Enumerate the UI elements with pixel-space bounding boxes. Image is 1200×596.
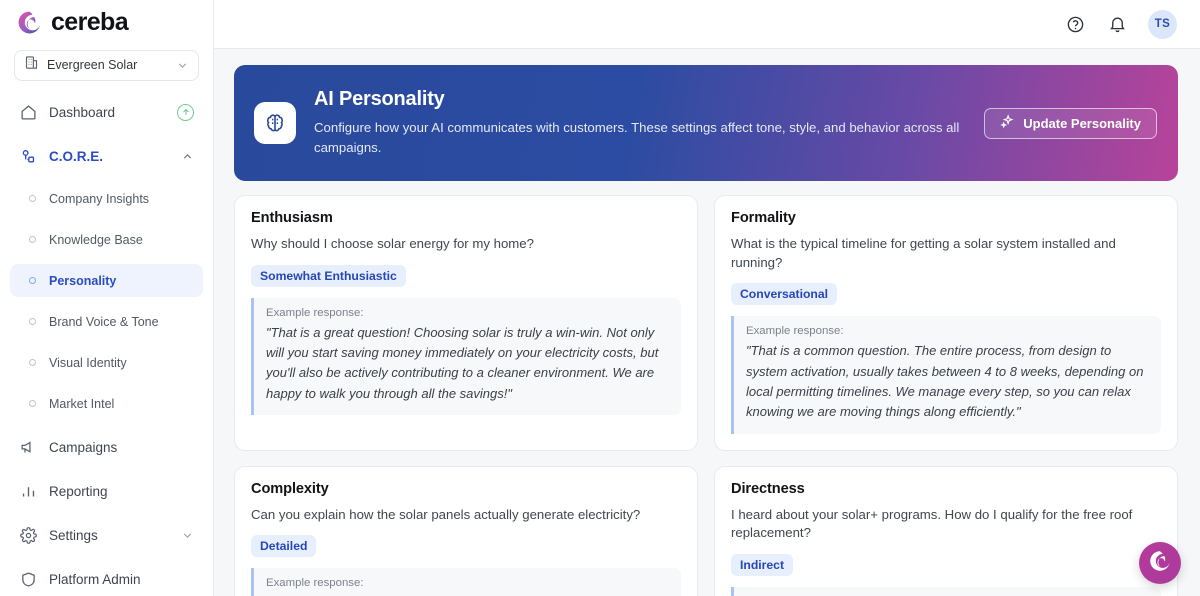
sidebar-subitem-label: Visual Identity: [49, 356, 127, 370]
personality-card-directness: Directness I heard about your solar+ pro…: [714, 466, 1178, 596]
sidebar-subitem-label: Personality: [49, 274, 116, 288]
brand-name: cereba: [51, 10, 128, 35]
sidebar-item-market-intel[interactable]: Market Intel: [10, 387, 203, 420]
banner-text: AI Personality Configure how your AI com…: [314, 88, 966, 157]
nav-spacer: [0, 420, 213, 430]
status-badge: Detailed: [251, 535, 316, 557]
sidebar-item-visual-identity[interactable]: Visual Identity: [10, 346, 203, 379]
sidebar-item-personality[interactable]: Personality: [10, 264, 203, 297]
chevron-down-icon: [181, 529, 194, 542]
chat-launcher-button[interactable]: [1139, 542, 1181, 584]
example-response-label: Example response:: [746, 325, 1149, 337]
status-badge: Somewhat Enthusiastic: [251, 265, 406, 287]
sparkles-icon: [1000, 114, 1015, 132]
shield-icon: [19, 570, 37, 588]
megaphone-icon: [19, 438, 37, 456]
chevron-up-icon: [181, 150, 194, 163]
sidebar-subitem-label: Market Intel: [49, 397, 114, 411]
personality-cards-grid: Enthusiasm Why should I choose solar ene…: [234, 195, 1178, 596]
sidebar-item-label: Settings: [49, 528, 169, 543]
bullet-ring-icon: [29, 359, 36, 366]
card-title: Complexity: [251, 481, 681, 497]
sidebar-item-dashboard[interactable]: Dashboard: [10, 95, 203, 129]
card-question: What is the typical timeline for getting…: [731, 235, 1161, 272]
bullet-ring-icon: [29, 236, 36, 243]
bullet-ring-icon: [29, 195, 36, 202]
page-banner: AI Personality Configure how your AI com…: [234, 65, 1178, 181]
chevron-down-icon: [176, 59, 189, 72]
card-title: Enthusiasm: [251, 210, 681, 226]
page-subtitle: Configure how your AI communicates with …: [314, 118, 966, 157]
page-title: AI Personality: [314, 88, 966, 111]
bullet-ring-icon: [29, 318, 36, 325]
status-badge: Conversational: [731, 283, 837, 305]
sidebar-item-platform-admin[interactable]: Platform Admin: [10, 562, 203, 596]
card-question: I heard about your solar+ programs. How …: [731, 506, 1161, 543]
example-response-box: Example response: "That is a common ques…: [731, 316, 1161, 433]
core-subnav: Company Insights Knowledge Base Personal…: [0, 182, 213, 420]
org-name: Evergreen Solar: [47, 58, 168, 72]
personality-card-enthusiasm: Enthusiasm Why should I choose solar ene…: [234, 195, 698, 451]
bullet-ring-icon: [29, 400, 36, 407]
update-personality-label: Update Personality: [1023, 116, 1141, 131]
avatar[interactable]: TS: [1148, 10, 1177, 39]
sidebar-item-company-insights[interactable]: Company Insights: [10, 182, 203, 215]
home-icon: [19, 103, 37, 121]
nodes-icon: [19, 147, 37, 165]
sidebar-nav: Dashboard C.O.R.E. Co: [0, 95, 213, 596]
app-root: cereba Evergreen Solar Dashboard: [0, 0, 1200, 596]
arrow-up-circle-icon: [177, 104, 194, 121]
sidebar-item-reporting[interactable]: Reporting: [10, 474, 203, 508]
sidebar-subitem-label: Knowledge Base: [49, 233, 143, 247]
brand[interactable]: cereba: [0, 0, 213, 46]
main-area: TS AI Personality Configure how your AI …: [214, 0, 1200, 596]
sidebar-item-label: Campaigns: [49, 440, 194, 455]
sidebar-item-settings[interactable]: Settings: [10, 518, 203, 552]
card-question: Why should I choose solar energy for my …: [251, 235, 681, 254]
card-title: Directness: [731, 481, 1161, 497]
sidebar: cereba Evergreen Solar Dashboard: [0, 0, 214, 596]
sidebar-item-knowledge-base[interactable]: Knowledge Base: [10, 223, 203, 256]
sidebar-item-label: Reporting: [49, 484, 194, 499]
sidebar-item-core[interactable]: C.O.R.E.: [10, 139, 203, 173]
help-circle-icon[interactable]: [1064, 13, 1086, 35]
page-content: AI Personality Configure how your AI com…: [214, 49, 1200, 596]
org-selector[interactable]: Evergreen Solar: [14, 50, 199, 81]
gear-icon: [19, 526, 37, 544]
sidebar-item-brand-voice-tone[interactable]: Brand Voice & Tone: [10, 305, 203, 338]
update-personality-button[interactable]: Update Personality: [984, 108, 1157, 139]
sidebar-item-label: Dashboard: [49, 105, 165, 120]
personality-card-formality: Formality What is the typical timeline f…: [714, 195, 1178, 451]
example-response-label: Example response:: [266, 577, 669, 589]
card-title: Formality: [731, 210, 1161, 226]
sidebar-item-campaigns[interactable]: Campaigns: [10, 430, 203, 464]
bar-chart-icon: [19, 482, 37, 500]
sidebar-subitem-label: Company Insights: [49, 192, 149, 206]
example-response-box: Example response: "Our solar+roof progra…: [731, 587, 1161, 596]
cereba-swirl-logo-icon: [17, 10, 42, 35]
example-response-box: Example response: "That is a great quest…: [251, 298, 681, 415]
example-response-text: "That is a common question. The entire p…: [746, 341, 1149, 422]
example-response-box: Example response: "We use high-efficienc…: [251, 568, 681, 596]
bullet-ring-icon: [29, 277, 36, 284]
topbar: TS: [214, 0, 1200, 49]
building-icon: [24, 55, 39, 75]
sidebar-item-label: C.O.R.E.: [49, 149, 169, 164]
bell-icon[interactable]: [1106, 13, 1128, 35]
sidebar-item-label: Platform Admin: [49, 572, 194, 587]
sidebar-subitem-label: Brand Voice & Tone: [49, 315, 159, 329]
card-question: Can you explain how the solar panels act…: [251, 506, 681, 525]
brain-icon: [254, 102, 296, 144]
status-badge: Indirect: [731, 554, 793, 576]
example-response-label: Example response:: [266, 307, 669, 319]
cereba-swirl-icon: [1148, 549, 1172, 578]
example-response-text: "That is a great question! Choosing sola…: [266, 323, 669, 404]
personality-card-complexity: Complexity Can you explain how the solar…: [234, 466, 698, 596]
